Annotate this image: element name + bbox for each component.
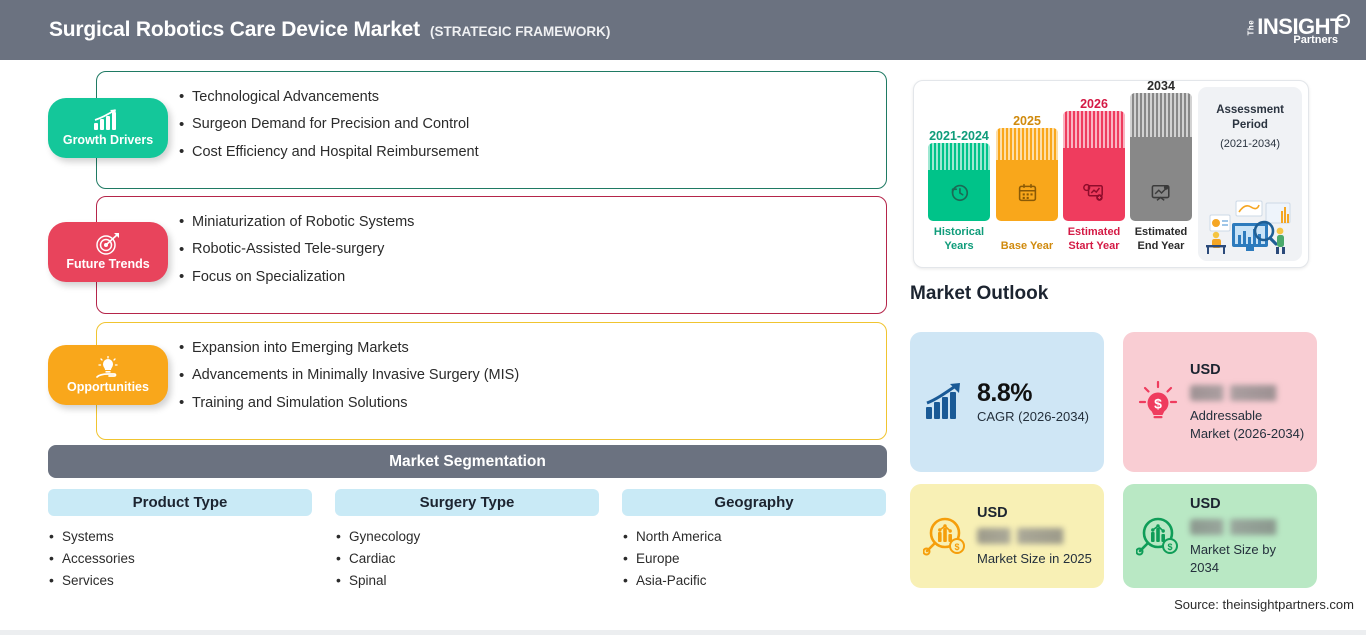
bar-fringe	[1063, 111, 1125, 148]
timeline-caption: Estimated End Year	[1124, 226, 1198, 253]
presentation-icon	[1130, 183, 1192, 208]
badge-opportunities[interactable]: Opportunities	[48, 345, 168, 405]
lightbulb-hand-icon	[93, 356, 123, 378]
list-item: Expansion into Emerging Markets	[192, 334, 886, 362]
list-item: Advancements in Minimally Invasive Surge…	[192, 362, 886, 390]
pillar-box-future-trends: Miniaturization of Robotic Systems Robot…	[96, 196, 887, 314]
cagr-label: CAGR (2026-2034)	[977, 408, 1092, 426]
segmentation-chip[interactable]: Geography	[622, 489, 886, 516]
timeline-caption: Estimated Start Year	[1057, 226, 1131, 253]
svg-text:$: $	[954, 542, 959, 552]
bar-fringe	[996, 128, 1058, 160]
left-column: Technological Advancements Surgeon Deman…	[0, 60, 900, 635]
history-clock-icon	[928, 181, 990, 208]
segmentation-chip[interactable]: Product Type	[48, 489, 312, 516]
card-content-row: $ USD Market Size in 2025	[922, 494, 1092, 578]
list-item: North America	[622, 525, 886, 547]
timeline-bar-fill	[996, 128, 1058, 221]
page-header: Surgical Robotics Care Device Market (ST…	[0, 0, 1366, 60]
svg-text:$: $	[1167, 542, 1172, 552]
infographic-page: Surgical Robotics Care Device Market (ST…	[0, 0, 1366, 635]
blurred-value	[1190, 385, 1305, 401]
pillar-list-future-trends: Miniaturization of Robotic Systems Robot…	[97, 197, 886, 291]
pillar-list-opportunities: Expansion into Emerging Markets Advancem…	[97, 323, 886, 417]
pillar-box-opportunities: Expansion into Emerging Markets Advancem…	[96, 322, 887, 440]
svg-text:$: $	[1154, 396, 1162, 412]
lightbulb-dollar-icon: $	[1135, 380, 1181, 424]
outlook-card-market-size-2034[interactable]: $ USD Market Size by 2034	[1123, 484, 1317, 588]
badge-growth-drivers[interactable]: Growth Drivers	[48, 98, 168, 158]
timeline-year: 2021-2024	[928, 129, 990, 143]
timeline-bar-fill	[928, 143, 990, 221]
list-item: Technological Advancements	[192, 83, 886, 111]
assessment-period-title: Assessment Period	[1198, 103, 1302, 133]
page-subtitle: (STRATEGIC FRAMEWORK)	[430, 24, 610, 39]
timeline-bar-fill	[1130, 93, 1192, 221]
market-outlook-title: Market Outlook	[910, 283, 1048, 305]
outlook-card-addressable-market[interactable]: $ USD Addressable Market (2026-2034)	[1123, 332, 1317, 472]
list-item: Accessories	[48, 547, 312, 569]
calendar-icon	[996, 182, 1058, 208]
segmentation-list: Systems Accessories Services	[48, 525, 312, 591]
card-text-block: 8.8% CAGR (2026-2034)	[977, 379, 1092, 426]
timeline-bars: 2021-2024 Historical Years 2025	[914, 81, 1198, 267]
outlook-card-cagr[interactable]: 8.8% CAGR (2026-2034)	[910, 332, 1104, 472]
dashboard-illustration-icon	[1202, 193, 1300, 255]
list-item: Spinal	[335, 569, 599, 591]
growth-chart-icon	[93, 109, 123, 131]
list-item: Miniaturization of Robotic Systems	[192, 208, 886, 236]
timeline-bar-fill	[1063, 111, 1125, 221]
bar-chart-arrow-icon	[922, 383, 968, 421]
timeline-caption: Base Year	[990, 240, 1064, 253]
currency-label: USD	[1190, 496, 1305, 512]
card-content-row: $ USD Addressable Market (2026-2034)	[1135, 342, 1305, 462]
pillar-box-growth-drivers: Technological Advancements Surgeon Deman…	[96, 71, 887, 189]
segmentation-column-product-type: Product Type Systems Accessories Service…	[48, 489, 312, 591]
badge-label: Opportunities	[67, 380, 149, 394]
segmentation-chip[interactable]: Surgery Type	[335, 489, 599, 516]
segmentation-columns: Product Type Systems Accessories Service…	[48, 489, 887, 591]
source-attribution: Source: theinsightpartners.com	[1174, 597, 1354, 612]
magnifier-chart-icon: $	[922, 514, 968, 558]
card-label: Addressable Market (2026-2034)	[1190, 407, 1305, 443]
logo-circle-icon	[1336, 14, 1350, 28]
target-icon	[95, 233, 121, 255]
insight-partners-logo: The INSIGHT Partners	[1230, 6, 1350, 54]
card-label: Market Size in 2025	[977, 550, 1092, 568]
currency-label: USD	[977, 505, 1092, 521]
cagr-value: 8.8%	[977, 379, 1092, 408]
badge-future-trends[interactable]: Future Trends	[48, 222, 168, 282]
blurred-value	[1190, 519, 1305, 535]
badge-label: Future Trends	[66, 257, 149, 271]
analytics-gear-icon	[1063, 183, 1125, 208]
bar-fringe	[928, 143, 990, 170]
card-text-block: USD Market Size by 2034	[1190, 496, 1305, 577]
bar-solid	[1130, 137, 1192, 221]
right-column: 2021-2024 Historical Years 2025	[900, 60, 1366, 635]
list-item: Europe	[622, 547, 886, 569]
segmentation-column-surgery-type: Surgery Type Gynecology Cardiac Spinal	[335, 489, 599, 591]
list-item: Cardiac	[335, 547, 599, 569]
badge-label: Growth Drivers	[63, 133, 153, 147]
bar-fringe	[1130, 93, 1192, 137]
list-item: Services	[48, 569, 312, 591]
timeline-year: 2034	[1130, 79, 1192, 93]
list-item: Training and Simulation Solutions	[192, 389, 886, 417]
card-text-block: USD Market Size in 2025	[977, 505, 1092, 568]
magnifier-chart-icon: $	[1135, 514, 1181, 558]
card-content-row: $ USD Market Size by 2034	[1135, 494, 1305, 578]
pillar-list-growth-drivers: Technological Advancements Surgeon Deman…	[97, 72, 886, 166]
page-title: Surgical Robotics Care Device Market	[49, 18, 420, 42]
segmentation-list: Gynecology Cardiac Spinal	[335, 525, 599, 591]
list-item: Systems	[48, 525, 312, 547]
outlook-card-market-size-2025[interactable]: $ USD Market Size in 2025	[910, 484, 1104, 588]
header-title-group: Surgical Robotics Care Device Market (ST…	[49, 18, 610, 42]
list-item: Cost Efficiency and Hospital Reimburseme…	[192, 138, 886, 166]
card-content-row: 8.8% CAGR (2026-2034)	[922, 342, 1092, 462]
blurred-value	[977, 528, 1092, 544]
market-segmentation-header: Market Segmentation	[48, 445, 887, 478]
assessment-period-range: (2021-2034)	[1198, 138, 1302, 150]
assessment-timeline-card: 2021-2024 Historical Years 2025	[913, 80, 1309, 268]
segmentation-column-geography: Geography North America Europe Asia-Paci…	[622, 489, 886, 591]
list-item: Focus on Specialization	[192, 263, 886, 291]
bottom-divider	[0, 630, 1366, 635]
timeline-year: 2025	[996, 114, 1058, 128]
timeline-caption: Historical Years	[922, 226, 996, 253]
list-item: Gynecology	[335, 525, 599, 547]
segmentation-list: North America Europe Asia-Pacific	[622, 525, 886, 591]
logo-the-text: The	[1248, 23, 1256, 36]
card-text-block: USD Addressable Market (2026-2034)	[1190, 362, 1305, 443]
list-item: Surgeon Demand for Precision and Control	[192, 111, 886, 139]
timeline-year: 2026	[1063, 97, 1125, 111]
list-item: Asia-Pacific	[622, 569, 886, 591]
currency-label: USD	[1190, 362, 1305, 378]
assessment-period-panel: Assessment Period (2021-2034)	[1198, 87, 1302, 261]
card-label: Market Size by 2034	[1190, 541, 1305, 577]
logo-partners-text: Partners	[1293, 35, 1338, 46]
list-item: Robotic-Assisted Tele-surgery	[192, 236, 886, 264]
